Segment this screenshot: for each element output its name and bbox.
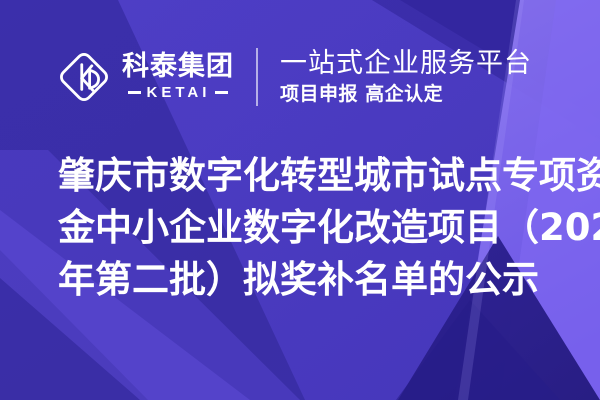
title-line-2: 金中小企业数字化改造项目（2025 (58, 202, 558, 254)
ketai-logo: 科泰集团 KETAI (56, 49, 234, 105)
tagline-primary: 一站式企业服务平台 (280, 48, 532, 80)
title-line-3: 年第二批）拟奖补名单的公示 (58, 254, 558, 306)
logo-english-row: KETAI (122, 84, 234, 101)
header-divider (256, 48, 258, 106)
logo-dash-left-icon (128, 91, 141, 94)
header-tagline: 一站式企业服务平台 项目申报 高企认定 (280, 48, 532, 107)
banner-header: 科泰集团 KETAI 一站式企业服务平台 项目申报 高企认定 (0, 38, 600, 116)
announcement-title: 肇庆市数字化转型城市试点专项资 金中小企业数字化改造项目（2025 年第二批）拟… (58, 150, 558, 306)
logo-dash-right-icon (215, 91, 228, 94)
logo-wordmark: 科泰集团 KETAI (122, 53, 234, 101)
logo-chinese-name: 科泰集团 (122, 53, 234, 81)
announcement-banner: 科泰集团 KETAI 一站式企业服务平台 项目申报 高企认定 肇庆市数字化转型城… (0, 0, 600, 400)
logo-english-name: KETAI (147, 84, 211, 101)
tagline-secondary: 项目申报 高企认定 (280, 82, 532, 107)
ketai-diamond-monogram-icon (56, 49, 112, 105)
title-line-1: 肇庆市数字化转型城市试点专项资 (58, 150, 558, 202)
